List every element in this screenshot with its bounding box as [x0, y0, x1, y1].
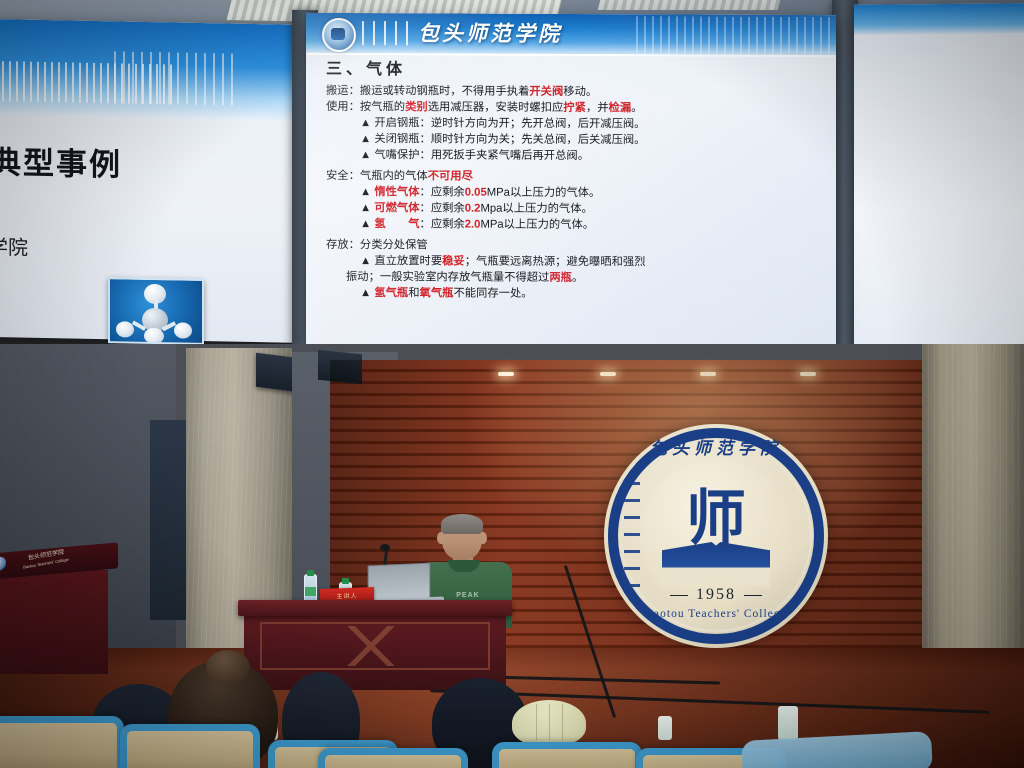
- bullet-value: 2.0: [465, 219, 481, 231]
- emblem-year: 1958: [666, 586, 766, 604]
- auditorium-seat: [318, 748, 468, 768]
- molecule-atom: [174, 322, 192, 338]
- bullet-mid: ；气瓶要远离热源；避免曝晒和强烈: [465, 256, 646, 269]
- bullet-text: 用死扳手夹紧气嘴后再开总阀。: [431, 149, 589, 162]
- usage-tail3: 。: [631, 102, 642, 114]
- lecture-hall-photo: 典型事例 学院 包头师范学院 三、气体 搬运：搬运或转动钢瓶时，不得用手执着开关…: [0, 0, 1024, 768]
- post-text: 不能同存一处。: [453, 288, 532, 300]
- usage-tail: 选用减压器，安装时螺扣应: [428, 101, 564, 114]
- left-screen-title: 典型事例: [0, 137, 230, 187]
- bullet-label: 氢 气: [374, 218, 419, 230]
- bullet-marker: ▲: [360, 218, 371, 230]
- bullet-upright-storage: ▲ 直立放置时要稳妥；气瓶要远离热源；避免曝晒和强烈: [360, 253, 822, 271]
- bullet-highlight-stable: 稳妥: [442, 255, 465, 267]
- cont-pre: 振动；一般实验室内存放气瓶量不得超过: [346, 271, 549, 284]
- bullet-marker: ▲: [360, 202, 371, 214]
- bullet-hydrogen-oxygen-separate: ▲ 氢气瓶和氧气瓶不能同存一处。: [360, 285, 822, 303]
- transport-text: 搬运或转动钢瓶时，不得用手执着: [360, 85, 529, 98]
- bullet-text: 顺时针方向为关；先关总阀，后关减压阀。: [431, 133, 646, 146]
- right-projection-screen: [854, 3, 1024, 351]
- bullet-label: 惰性气体: [374, 186, 419, 198]
- bullet-post: MPa以上压力的气体。: [480, 219, 594, 231]
- usage-label: 使用：: [326, 99, 360, 115]
- main-podium: [238, 600, 512, 690]
- presenter-hair: [441, 514, 483, 534]
- left-screen-subtitle: 学院: [0, 231, 188, 264]
- bullet-marker: ▲: [360, 149, 371, 161]
- paper-cup: [658, 716, 672, 740]
- right-screen-header-band: [854, 3, 1024, 35]
- bullet-flammable-gas: ▲ 可燃气体：应剩余0.2Mpa以上压力的气体。: [360, 200, 822, 218]
- slide-university-name: 包头师范学院: [418, 17, 562, 48]
- audience-cap: [512, 700, 586, 746]
- main-projection-slide: 包头师范学院 三、气体 搬运：搬运或转动钢瓶时，不得用手执着开关阀移动。 使用：…: [306, 13, 836, 347]
- safety-text: 气瓶内的气体: [360, 170, 428, 182]
- slide-body: 三、气体 搬运：搬运或转动钢瓶时，不得用手执着开关阀移动。 使用：按气瓶的类别选…: [306, 53, 836, 347]
- podium-top-surface: [238, 600, 512, 616]
- bullet-marker: ▲: [360, 186, 371, 198]
- auditorium-seat: [0, 716, 124, 768]
- thermos-cup: [778, 706, 798, 740]
- cont-highlight-two-bottles: 两瓶: [549, 272, 572, 284]
- molecule-atom: [116, 321, 134, 337]
- presenter-ear: [479, 532, 487, 544]
- mid-and: 和: [408, 287, 419, 299]
- emblem-mongolian-script: [624, 482, 640, 590]
- campus-building-lineart-icon-2: [114, 51, 234, 105]
- campus-building-lineart-icon-slide: [636, 16, 836, 53]
- bullet-marker: ▲: [360, 133, 371, 145]
- slide-header-band: 包头师范学院: [306, 13, 836, 57]
- molecule-icon: [108, 277, 204, 345]
- college-emblem: 包头师范学院 师 1958 Baotou Teachers' College: [604, 424, 828, 648]
- usage-text: 按气瓶的: [360, 101, 405, 113]
- bullet-pre: 直立放置时要: [374, 255, 442, 267]
- safety-label: 安全：: [326, 168, 360, 184]
- microphone-icon: [380, 544, 390, 551]
- cont-post: 。: [572, 272, 583, 284]
- bullet-close-cylinder: ▲ 关闭钢瓶：顺时针方向为关；先关总阀，后关减压阀。: [360, 131, 822, 149]
- transport-label: 搬运：: [326, 83, 360, 99]
- bullet-marker: ▲: [360, 117, 371, 129]
- bullet-inert-gas: ▲ 惰性气体：应剩余0.05MPa以上压力的气体。: [360, 184, 822, 202]
- bottle-label: [305, 587, 316, 596]
- bullet-pre: ：应剩余: [420, 186, 465, 198]
- slide-section-heading: 三、气体: [326, 59, 822, 84]
- transport-highlight: 开关阀: [529, 86, 563, 98]
- shirt-logo: PEAK: [454, 592, 482, 600]
- storage-text: 分类分处保管: [360, 239, 428, 251]
- safety-highlight: 不可用尽: [428, 170, 473, 182]
- emblem-center-glyph: 师: [682, 488, 750, 554]
- bullet-text: 逆时针方向为开；先开总阀，后开减压阀。: [431, 117, 646, 130]
- bullet-post: Mpa以上压力的气体。: [480, 203, 592, 215]
- bullet-label: 气嘴保护：: [374, 149, 431, 161]
- bullet-marker: ▲: [360, 255, 371, 267]
- hair-bun: [206, 650, 250, 684]
- bullet-label: 可燃气体: [374, 202, 419, 214]
- secondary-podium: 包头师范学院 Baotou Teachers' College: [0, 548, 118, 674]
- bullet-pre: ：应剩余: [420, 202, 465, 214]
- molecule-atom: [144, 328, 164, 344]
- secondary-podium-nameplate: 包头师范学院 Baotou Teachers' College: [2, 545, 90, 576]
- emblem-name-en: Baotou Teachers' College: [634, 608, 798, 620]
- bullet-value: 0.2: [465, 202, 481, 214]
- highlight-oxygen-cylinder: 氧气瓶: [420, 287, 454, 299]
- usage-highlight-leakcheck: 检漏: [609, 102, 632, 114]
- mongolian-script-text: [362, 21, 410, 45]
- usage-highlight-category: 类别: [405, 101, 428, 113]
- ceiling-light-panel-2: [598, 0, 782, 10]
- bullet-marker: ▲: [360, 287, 371, 299]
- auditorium-seat: [492, 742, 642, 768]
- storage-label: 存放：: [326, 237, 360, 253]
- bullet-post: MPa以上压力的气体。: [487, 187, 601, 199]
- transport-tail: 移动。: [563, 86, 597, 98]
- stone-pillar-right-texture: [922, 344, 1024, 674]
- slide-line-usage: 使用：按气瓶的类别选用减压器，安装时螺扣应拧紧，并检漏。: [326, 99, 822, 117]
- bullet-nozzle-protection: ▲ 气嘴保护：用死扳手夹紧气嘴后再开总阀。: [360, 147, 822, 165]
- usage-tail2: ，并: [586, 102, 609, 114]
- bullet-pre: ：应剩余: [420, 218, 465, 230]
- presenter-ear: [437, 532, 445, 544]
- bullet-label: 开启钢瓶：: [374, 117, 431, 129]
- auditorium-seat: [120, 724, 260, 768]
- highlight-hydrogen-cylinder: 氢气瓶: [374, 287, 408, 299]
- bullet-value: 0.05: [465, 186, 487, 198]
- bullet-open-cylinder: ▲ 开启钢瓶：逆时针方向为开；先开总阀，后开减压阀。: [360, 115, 822, 133]
- slide-line-transport: 搬运：搬运或转动钢瓶时，不得用手执着开关阀移动。: [326, 83, 822, 101]
- college-seal-icon: [322, 18, 356, 52]
- secondary-podium-body: [0, 570, 108, 674]
- podium-diamond-pattern: [264, 626, 486, 666]
- left-screen-header-band: [0, 19, 304, 121]
- bullet-label: 关闭钢瓶：: [374, 133, 431, 145]
- usage-highlight-tighten: 拧紧: [563, 102, 586, 114]
- bullet-hydrogen: ▲ 氢 气：应剩余2.0MPa以上压力的气体。: [360, 216, 822, 234]
